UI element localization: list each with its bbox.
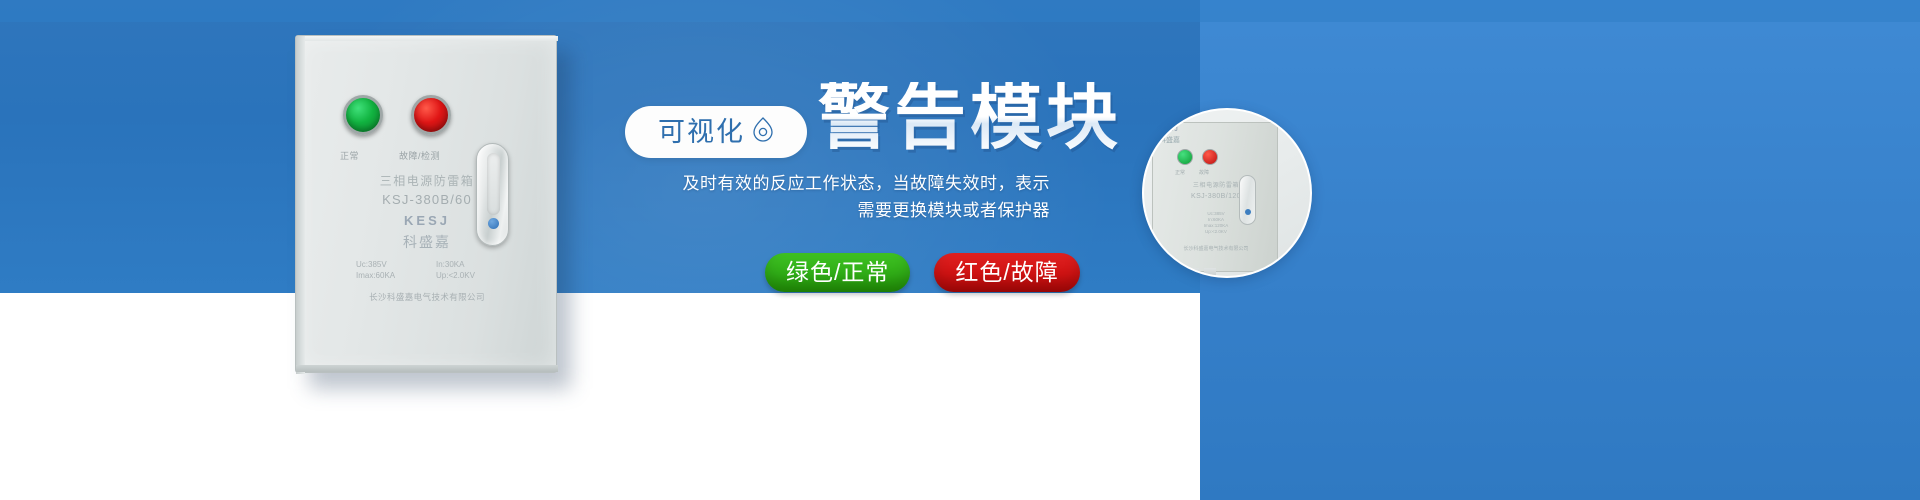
inset-brand-cn: 科盛嘉 (1159, 135, 1180, 145)
location-pin-icon (752, 117, 774, 148)
indicator-lamp-red (411, 95, 451, 135)
inset-door-handle (1239, 175, 1256, 225)
handle-slot (487, 153, 500, 215)
product-image-inset: KESJ 科盛嘉 正常 故障 三相电源防雷箱 KSJ-380B/120 Uc:3… (1142, 108, 1312, 278)
background-blue-right (1200, 0, 1920, 500)
spec-row-1: Uc:385V In:30KA (296, 259, 558, 270)
visualization-pill: 可视化 (625, 106, 807, 158)
status-badge-normal: 绿色/正常 (765, 253, 910, 292)
inset-indicator-lamp-green (1177, 149, 1193, 165)
status-badge-group: 绿色/正常 红色/故障 (765, 253, 1080, 292)
subtitle-line-1: 及时有效的反应工作状态，当故障失效时，表示 (560, 170, 1050, 197)
subtitle-line-2: 需要更换模块或者保护器 (560, 197, 1050, 224)
inset-panel-model: KSJ-380B/120 (1153, 193, 1279, 200)
handle-lock-dot (488, 218, 499, 229)
door-handle (476, 143, 509, 246)
inset-handle-lock-dot (1245, 209, 1251, 215)
background-top-stripe (0, 0, 1920, 22)
status-badge-fault: 红色/故障 (934, 253, 1079, 292)
spec-imax: Imax:60KA (356, 270, 418, 281)
enclosure-top-bevel (296, 36, 558, 41)
panel-model: KSJ-380B/60 (296, 192, 558, 207)
inset-panel-company: 长沙科盛嘉电气技术有限公司 (1153, 245, 1279, 252)
inset-panel-title: 三相电源防雷箱 (1153, 180, 1279, 189)
panel-title: 三相电源防雷箱 (296, 172, 558, 189)
inset-indicator-lamp-red (1202, 149, 1218, 165)
inset-enclosure-body: KESJ 科盛嘉 正常 故障 三相电源防雷箱 KSJ-380B/120 Uc:3… (1152, 122, 1278, 272)
panel-company: 长沙科盛嘉电气技术有限公司 (296, 291, 558, 303)
lamp-label-normal: 正常 (340, 149, 359, 162)
product-image-main: 正常 故障/检测 三相电源防雷箱 KSJ-380B/60 KESJ 科盛嘉 Uc… (295, 35, 557, 373)
lamp-label-fault: 故障/检测 (399, 149, 440, 162)
page-title: 警告模块 (818, 82, 1122, 154)
inset-lamp-label-normal: 正常 (1175, 169, 1185, 176)
panel-brand-en: KESJ (296, 213, 558, 228)
spec-up: Up:<2.0KV (436, 270, 498, 281)
enclosure-bottom-edge (296, 365, 558, 372)
background-white-bottom (0, 293, 1200, 500)
panel-specs: Uc:385V In:30KA Imax:60KA Up:<2.0KV (296, 259, 558, 281)
indicator-lamp-green (343, 95, 383, 135)
inset-lamp-label-fault: 故障 (1199, 169, 1209, 176)
spec-in: In:30KA (436, 259, 498, 270)
inset-spec-4: Up:<2.0KV (1153, 229, 1279, 235)
subtitle: 及时有效的反应工作状态，当故障失效时，表示 需要更换模块或者保护器 (560, 170, 1050, 224)
spec-row-2: Imax:60KA Up:<2.0KV (296, 270, 558, 281)
promo-banner: 正常 故障/检测 三相电源防雷箱 KSJ-380B/60 KESJ 科盛嘉 Uc… (0, 0, 1920, 500)
panel-brand-cn: 科盛嘉 (296, 232, 558, 252)
inset-brand-en: KESJ (1159, 127, 1179, 133)
enclosure-body: 正常 故障/检测 三相电源防雷箱 KSJ-380B/60 KESJ 科盛嘉 Uc… (295, 35, 557, 373)
inset-panel-specs: Uc:385V In:60KA Imax:120KA Up:<2.0KV (1153, 211, 1279, 235)
pill-label: 可视化 (658, 119, 745, 146)
spec-uc: Uc:385V (356, 259, 418, 270)
